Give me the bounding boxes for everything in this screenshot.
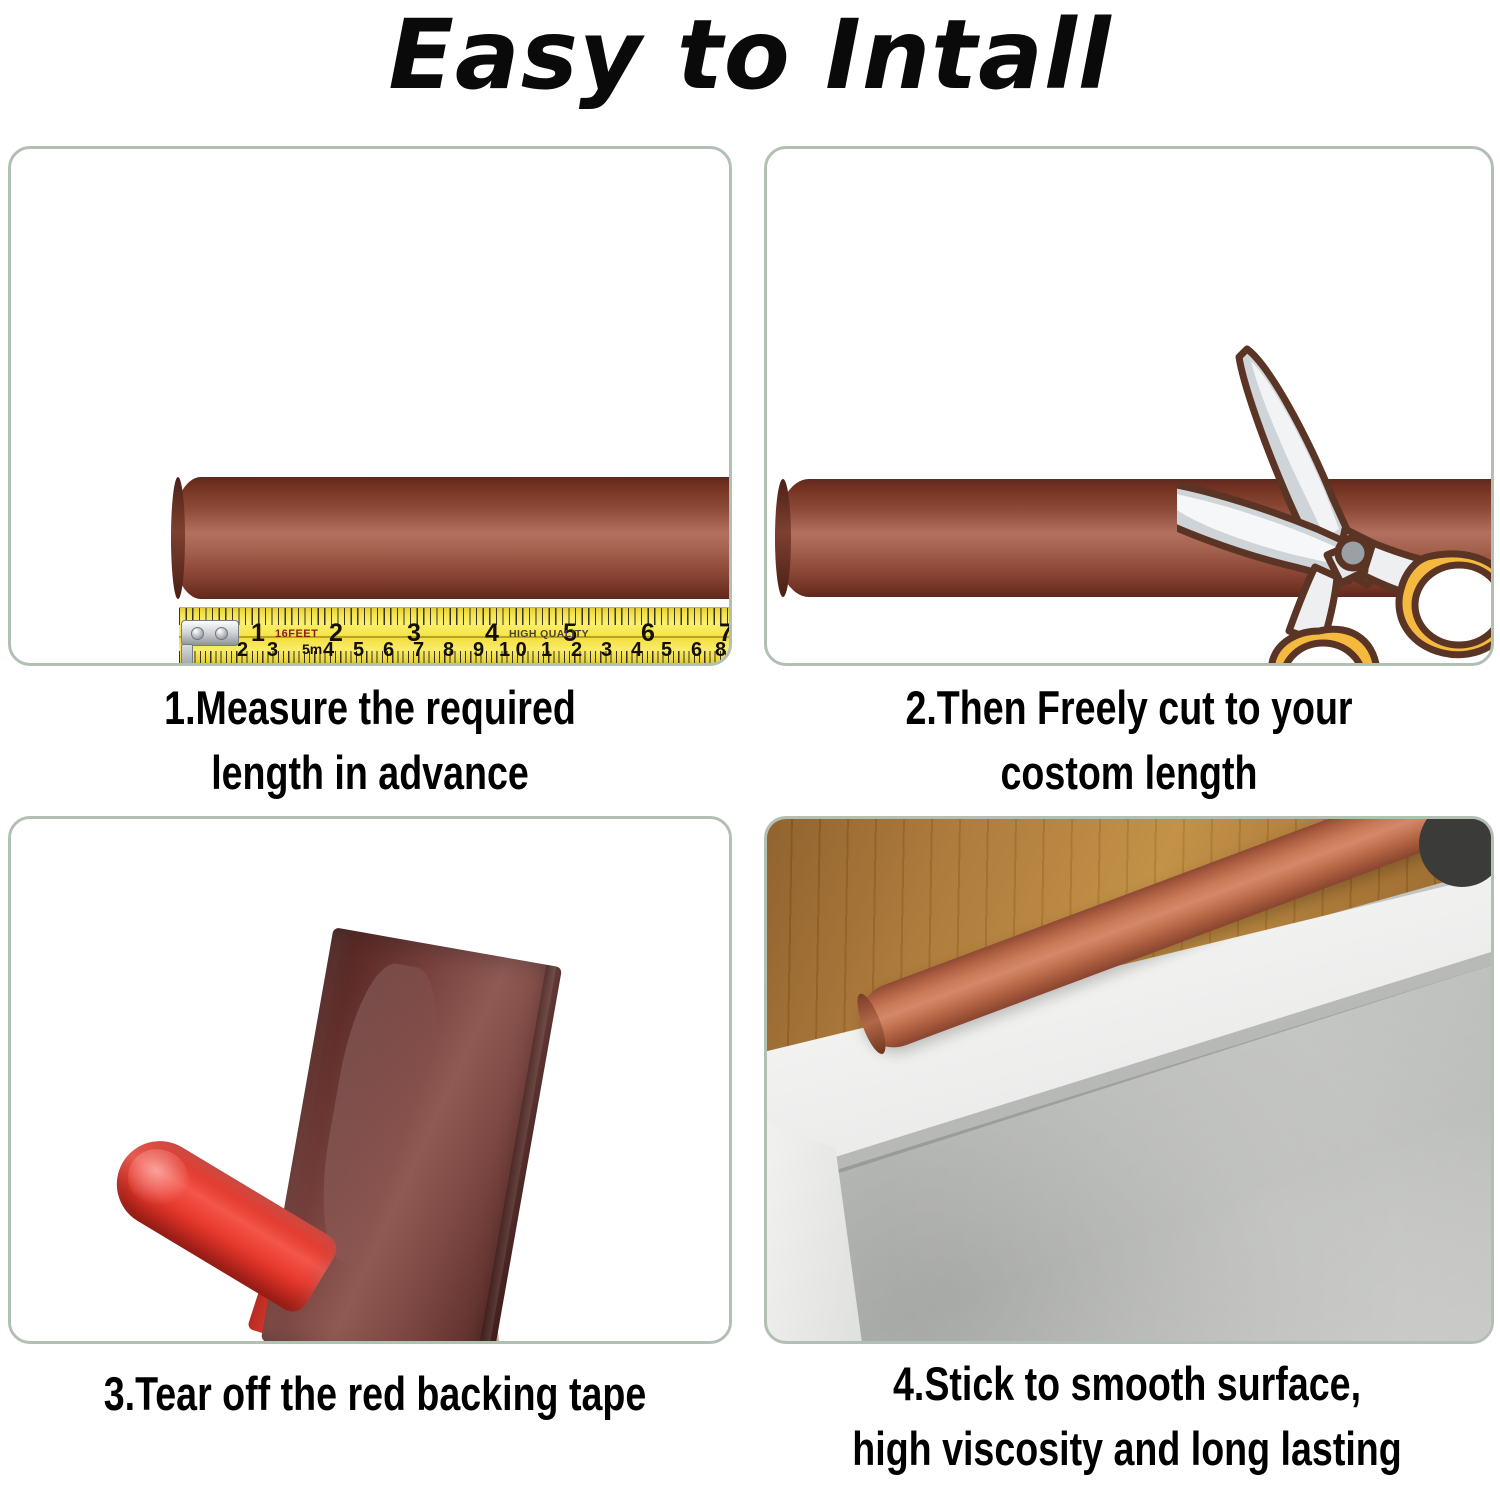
tape-cm-number: 6 (691, 640, 702, 660)
step-3-panel (8, 816, 732, 1344)
page-title: Easy to Intall (0, 2, 1500, 110)
tape-cm-number: 3 (267, 640, 278, 660)
tape-cm-number: 5 (353, 640, 364, 660)
step-4-caption: 4.Stick to smooth surface, high viscosit… (829, 1352, 1426, 1482)
step-1-caption: 1.Measure the required length in advance (80, 676, 659, 806)
step-3-caption: 3.Tear off the red backing tape (75, 1362, 675, 1427)
tape-cm-number: 4 (323, 640, 334, 660)
tape-cm-number: 2 (571, 640, 582, 660)
tape-metric-label: 5m (302, 642, 322, 656)
step-1-panel: 1 2 3 4 5 6 7 2 3 4 5 6 7 8 9 1 0 1 2 3 … (8, 146, 732, 666)
tape-hook-body (181, 620, 239, 646)
tape-hook-rivet-right (215, 627, 228, 640)
tape-cm-number: 7 (413, 640, 424, 660)
tape-cm-number: 1 (541, 640, 552, 660)
tape-hook-rivet-left (191, 627, 204, 640)
step-4-panel (764, 816, 1494, 1344)
tape-ticks-bottom (179, 651, 732, 664)
peel-illustration (11, 819, 729, 1341)
scissors-icon (1177, 331, 1494, 666)
tape-inch-number: 6 (641, 621, 655, 646)
trim-strip-illustration (171, 477, 732, 599)
tape-inch-number: 1 (251, 621, 265, 646)
step-2-caption: 2.Then Freely cut to your costom length (837, 676, 1421, 806)
tape-cm-number: 4 (631, 640, 642, 660)
tape-measure-illustration: 1 2 3 4 5 6 7 2 3 4 5 6 7 8 9 1 0 1 2 3 … (179, 607, 732, 665)
tape-cm-number: 3 (601, 640, 612, 660)
tape-hook-tab (181, 644, 193, 665)
tape-hook-icon (179, 614, 241, 656)
tape-cm-number: 8 (715, 640, 726, 660)
infographic-page: Easy to Intall 1 2 3 4 5 6 7 2 3 (0, 0, 1500, 1485)
tape-cm-number: 6 (383, 640, 394, 660)
tape-cm-number: 1 0 (499, 640, 527, 660)
tape-quality-label: HIGH QUALITY (509, 629, 589, 640)
tape-cm-number: 5 (661, 640, 672, 660)
tape-cm-number: 9 (473, 640, 484, 660)
installed-trim-photo (767, 819, 1491, 1341)
tape-inch-number: 4 (485, 621, 499, 646)
step-2-panel (764, 146, 1494, 666)
tape-cm-number: 8 (443, 640, 454, 660)
tape-feet-label: 16FEET (275, 629, 318, 640)
